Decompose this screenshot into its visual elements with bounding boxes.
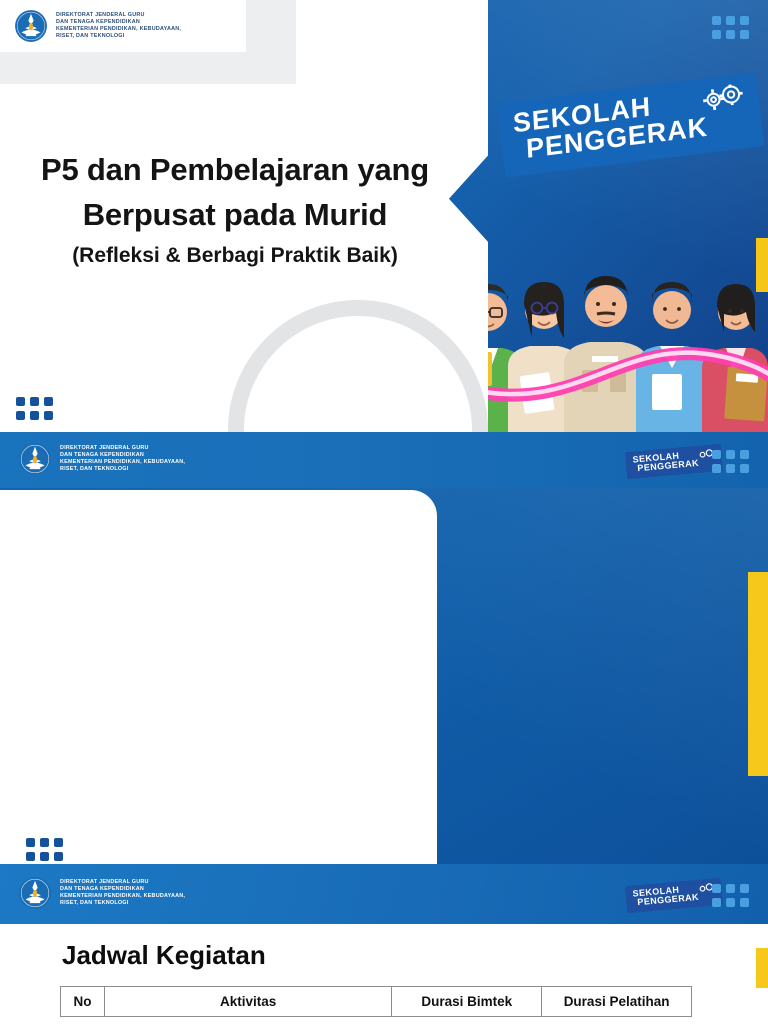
- logo-line-1: DIREKTORAT JENDERAL GURU: [60, 445, 185, 452]
- slide-3-title: Jadwal Kegiatan: [62, 940, 266, 971]
- ministry-logo-text: DIREKTORAT JENDERAL GURU DAN TENAGA KEPE…: [60, 879, 185, 907]
- logo-line-4: RISET, DAN TEKNOLOGI: [56, 33, 181, 40]
- slide-2-header: DIREKTORAT JENDERAL GURU DAN TENAGA KEPE…: [0, 432, 768, 488]
- logo-line-3: KEMENTERIAN PENDIDIKAN, KEBUDAYAAN,: [60, 459, 185, 466]
- slide-2: DIREKTORAT JENDERAL GURU DAN TENAGA KEPE…: [0, 432, 768, 864]
- logo-line-2: DAN TENAGA KEPENDIDIKAN: [56, 19, 181, 26]
- accent-bar-yellow: [748, 572, 768, 776]
- slide-3: DIREKTORAT JENDERAL GURU DAN TENAGA KEPE…: [0, 864, 768, 1024]
- table-header-durasi-bimtek: Durasi Bimtek: [392, 987, 542, 1017]
- table-header-no: No: [61, 987, 105, 1017]
- slide-1: DIREKTORAT JENDERAL GURU DAN TENAGA KEPE…: [0, 0, 768, 432]
- ministry-logo-text: DIREKTORAT JENDERAL GURU DAN TENAGA KEPE…: [56, 12, 181, 40]
- logo-line-1: DIREKTORAT JENDERAL GURU: [60, 879, 185, 886]
- logo-line-4: RISET, DAN TEKNOLOGI: [60, 900, 185, 907]
- decorative-arc: [228, 300, 488, 432]
- slide-1-title-block: P5 dan Pembelajaran yang Berpusat pada M…: [0, 148, 470, 268]
- table-header-aktivitas: Aktivitas: [104, 987, 391, 1017]
- dot-grid-decoration-bottom: [26, 838, 63, 861]
- slide-3-header: DIREKTORAT JENDERAL GURU DAN TENAGA KEPE…: [0, 864, 768, 924]
- dot-grid-decoration: [712, 450, 749, 473]
- table-header-durasi-pelatihan: Durasi Pelatihan: [542, 987, 692, 1017]
- jadwal-kegiatan-table: No Aktivitas Durasi Bimtek Durasi Pelati…: [60, 986, 692, 1017]
- dot-grid-decoration: [712, 884, 749, 907]
- logo-line-2: DAN TENAGA KEPENDIDIKAN: [60, 452, 185, 459]
- accent-bar-yellow: [756, 238, 768, 292]
- slide-1-subtitle: (Refleksi & Berbagi Praktik Baik): [0, 244, 470, 268]
- ministry-logo-text: DIREKTORAT JENDERAL GURU DAN TENAGA KEPE…: [60, 445, 185, 473]
- slide-1-title-line-2: Berpusat pada Murid: [0, 193, 470, 238]
- slide-1-logo-card: DIREKTORAT JENDERAL GURU DAN TENAGA KEPE…: [0, 0, 246, 52]
- slide-2-white-card: Ice Breaker & Perkenalan 1. Senam Otak 2…: [0, 490, 437, 864]
- tut-wuri-handayani-logo-icon: [14, 9, 48, 43]
- tut-wuri-handayani-logo-icon: [18, 442, 52, 476]
- dot-grid-decoration-top: [712, 16, 749, 39]
- table-header-row: No Aktivitas Durasi Bimtek Durasi Pelati…: [61, 987, 692, 1017]
- logo-line-3: KEMENTERIAN PENDIDIKAN, KEBUDAYAAN,: [56, 26, 181, 33]
- dot-grid-decoration: [16, 397, 53, 420]
- slide-1-title-line-1: P5 dan Pembelajaran yang: [0, 148, 470, 193]
- slide-1-white-panel: DIREKTORAT JENDERAL GURU DAN TENAGA KEPE…: [0, 0, 488, 432]
- slide-deck: DIREKTORAT JENDERAL GURU DAN TENAGA KEPE…: [0, 0, 768, 1024]
- accent-bar-yellow: [756, 948, 768, 988]
- tut-wuri-handayani-logo-icon: [18, 876, 52, 910]
- logo-line-1: DIREKTORAT JENDERAL GURU: [56, 12, 181, 19]
- logo-line-4: RISET, DAN TEKNOLOGI: [60, 466, 185, 473]
- logo-line-2: DAN TENAGA KEPENDIDIKAN: [60, 886, 185, 893]
- logo-line-3: KEMENTERIAN PENDIDIKAN, KEBUDAYAAN,: [60, 893, 185, 900]
